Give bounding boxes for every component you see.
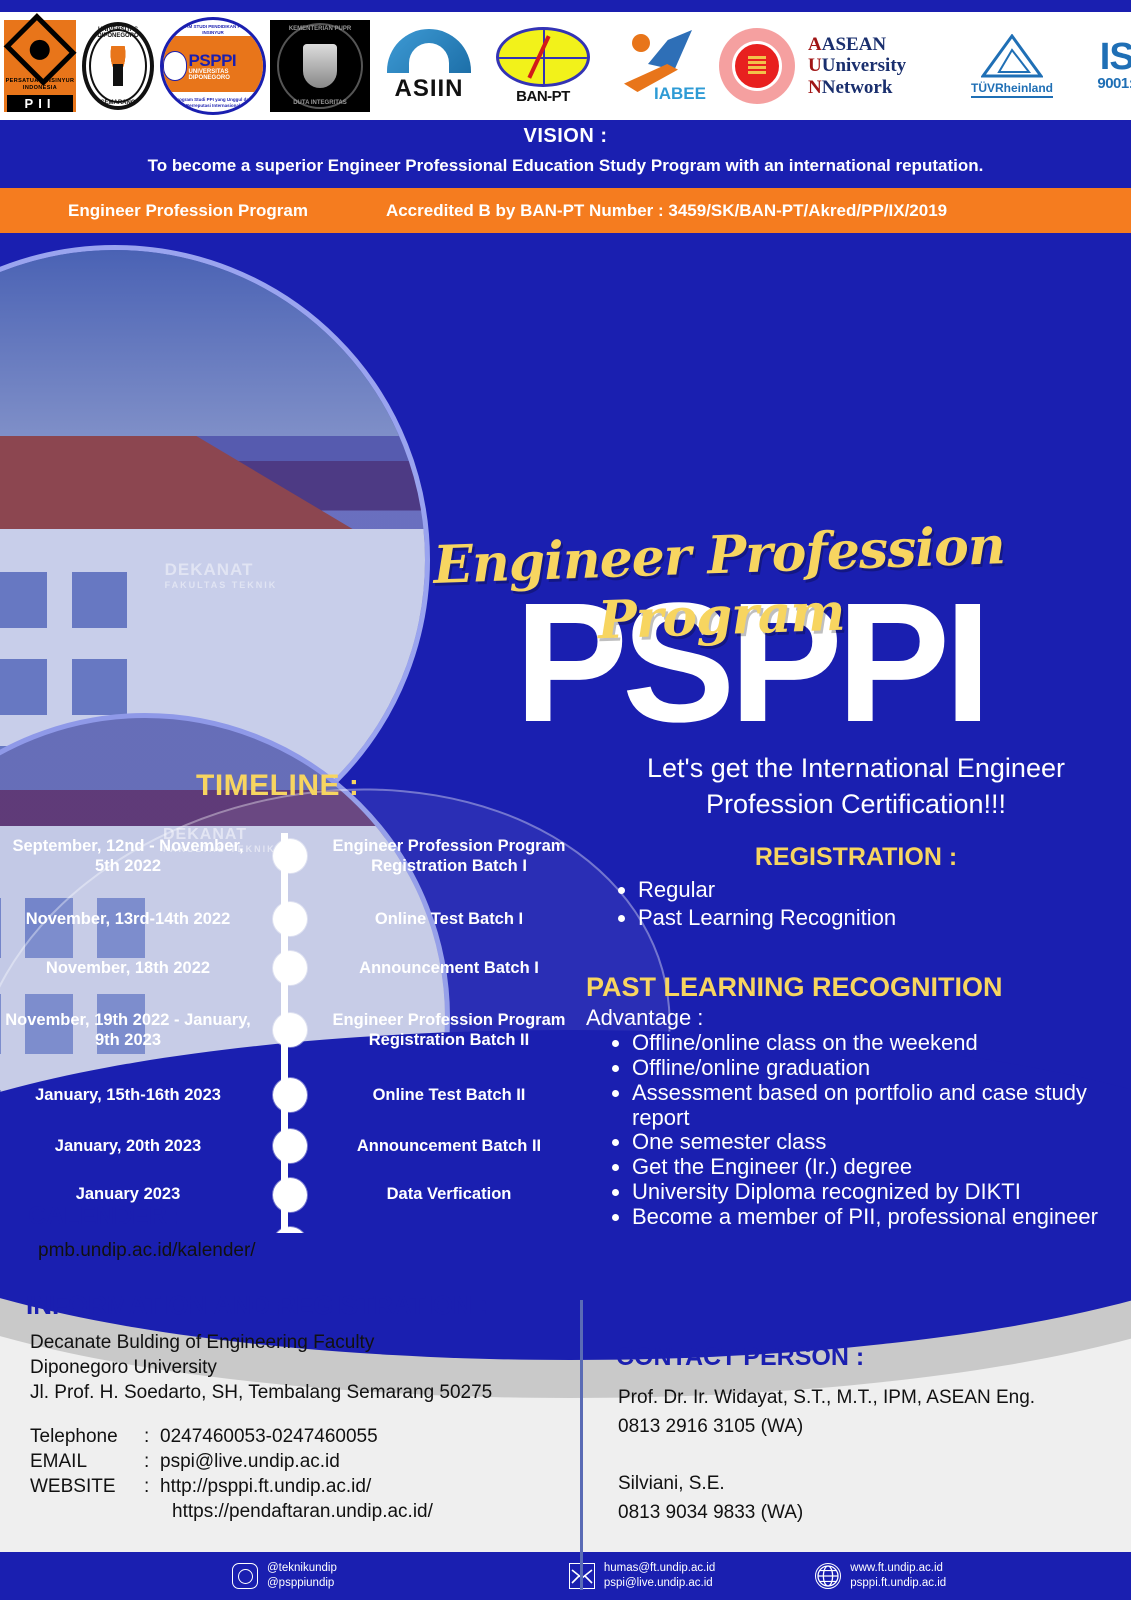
- plr-advantage-list: Offline/online class on the weekend Offl…: [586, 1031, 1126, 1233]
- list-item: One semester class: [632, 1130, 1126, 1155]
- pii-logo-label: PII: [7, 95, 73, 112]
- list-item: Past Learning Recognition: [638, 904, 1126, 932]
- aun-u: U: [808, 55, 822, 76]
- info-key: Telephone: [30, 1424, 144, 1449]
- footer-website[interactable]: www.ft.undip.ac.id psppi.ft.undip.ac.id: [815, 1561, 946, 1591]
- info-key: WEBSITE: [30, 1474, 144, 1499]
- timeline-date: November, 19th 2022 - January, 9th 2023: [0, 1010, 262, 1050]
- timeline-row: January, 20th 2023 Announcement Batch II: [0, 1122, 580, 1170]
- timeline-date: November, 13rd-14th 2022: [0, 909, 262, 929]
- timeline-event: Engineer Profession Program Registration…: [318, 1010, 576, 1050]
- right-column: Let's get the International Engineer Pro…: [586, 753, 1126, 1233]
- kemendikbud-logo: KEMENTERIAN PUPR DUTA INTEGRITAS: [270, 19, 370, 113]
- undip-torch-icon: [105, 46, 131, 86]
- timeline-date: November, 18th 2022: [0, 958, 262, 978]
- timeline-event: Data Verfication: [318, 1184, 576, 1204]
- contact-person-2: Silviani, S.E. 0813 9034 9833 (WA): [618, 1470, 803, 1527]
- timeline-date: September, 12nd - November, 5th 2022: [0, 836, 262, 876]
- hero-script-title: Engineer Profession Program: [368, 513, 1072, 659]
- psppi-logo-top-text: PROGRAM STUDI PENDIDIKAN PROFESI INSINYU…: [163, 24, 263, 36]
- timeline-row: November, 18th 2022 Announcement Batch I: [0, 944, 580, 992]
- timeline-row: November, 19th 2022 - January, 9th 2023 …: [0, 992, 580, 1068]
- timeline-date: January, 20th 2023: [0, 1136, 262, 1156]
- plr-heading: PAST LEARNING RECOGNITION: [586, 972, 1126, 1003]
- information-address: Decanate Bulding of Engineering Faculty …: [30, 1330, 492, 1405]
- list-item: Assessment based on portfolio and case s…: [632, 1081, 1126, 1131]
- accreditation-program: Engineer Profession Program: [68, 201, 308, 221]
- accreditation-text: Accredited B by BAN-PT Number : 3459/SK/…: [386, 201, 947, 221]
- info-row: https://pendaftaran.undip.ac.id/: [30, 1499, 435, 1524]
- footer-website-line1: www.ft.undip.ac.id: [850, 1561, 946, 1576]
- aun-n: N: [808, 77, 822, 98]
- list-item: Offline/online class on the weekend: [632, 1031, 1126, 1056]
- list-item: Offline/online graduation: [632, 1056, 1126, 1081]
- vision-band: VISION : To become a superior Engineer P…: [0, 120, 1131, 188]
- timeline-dot: [273, 1078, 307, 1112]
- pii-diamond-icon: [3, 13, 76, 86]
- contact-person-2-phone[interactable]: 0813 9034 9833 (WA): [618, 1499, 803, 1528]
- psppi-logo: PROGRAM STUDI PENDIDIKAN PROFESI INSINYU…: [160, 19, 266, 113]
- timeline-row: November, 13rd-14th 2022 Online Test Bat…: [0, 894, 580, 944]
- vertical-divider: [580, 1300, 583, 1590]
- info-key: EMAIL: [30, 1449, 144, 1474]
- timeline-row: January, 15th-16th 2023 Online Test Batc…: [0, 1068, 580, 1122]
- info-colon: :: [144, 1474, 160, 1499]
- undip-seal-bottom-text: SEMARANG: [80, 100, 156, 106]
- timeline-dot: [273, 1013, 307, 1047]
- registration-heading: REGISTRATION :: [586, 843, 1126, 872]
- info-value[interactable]: http://psppi.ft.undip.ac.id/: [160, 1474, 435, 1499]
- psppi-mini-seal-icon: [163, 51, 187, 81]
- kemendikbud-bottom-text: DUTA INTEGRITAS: [270, 100, 370, 106]
- info-value[interactable]: pspi@live.undip.ac.id: [160, 1449, 435, 1474]
- building-sign-main: DEKANAT: [165, 560, 254, 579]
- building-sign-sub: FAKULTAS TEKNIK: [165, 580, 278, 590]
- asean-logo: [716, 19, 798, 113]
- kemendikbud-top-text: KEMENTERIAN PUPR: [270, 26, 370, 32]
- list-item: Regular: [638, 876, 1126, 904]
- timeline-dot: [273, 951, 307, 985]
- timeline-list: September, 12nd - November, 5th 2022 Eng…: [0, 818, 580, 1233]
- timeline-dot: [273, 839, 307, 873]
- footer-instagram-line2: @psppiundip: [267, 1576, 337, 1591]
- aun-l1: ASEAN: [822, 34, 886, 55]
- footer-email-line1: humas@ft.undip.ac.id: [604, 1561, 715, 1576]
- undip-seal-top-text: UNIVERSITAS DIPONEGORO: [80, 27, 156, 39]
- timeline-event: Announcement Batch II: [318, 1136, 576, 1156]
- iso-9001-word: ISO: [1100, 40, 1131, 74]
- list-item: University Diploma recognized by DIKTI: [632, 1180, 1126, 1205]
- ban-pt-globe-icon: [496, 27, 590, 87]
- timeline-row: February 2023 Online/Offline Class: [0, 1219, 580, 1233]
- contact-person-1-name: Prof. Dr. Ir. Widayat, S.T., M.T., IPM, …: [618, 1384, 1035, 1413]
- timeline-dot: [273, 1129, 307, 1163]
- timeline-dot: [273, 1227, 307, 1233]
- list-item: Become a member of PII, professional eng…: [632, 1205, 1126, 1233]
- tuv-triangle-icon: [981, 34, 1043, 78]
- contact-person-heading: CONTACT PERSON :: [616, 1343, 864, 1372]
- undip-seal-logo: UNIVERSITAS DIPONEGORO SEMARANG: [80, 19, 156, 113]
- iso-9001-logo: ISO 9001:2015: [1072, 19, 1131, 113]
- vision-text: To become a superior Engineer Profession…: [0, 156, 1131, 176]
- contact-person-2-name: Silviani, S.E.: [618, 1470, 803, 1499]
- iabee-logo: IABEE: [602, 19, 712, 113]
- footer-instagram[interactable]: @teknikundip @psppiundip: [232, 1561, 337, 1591]
- instagram-icon: [232, 1563, 258, 1589]
- info-colon: [144, 1499, 160, 1524]
- information-heading: INFORMATION AND REGISTRATION :: [26, 1290, 488, 1321]
- info-value[interactable]: https://pendaftaran.undip.ac.id/: [160, 1499, 435, 1524]
- vision-title: VISION :: [0, 125, 1131, 148]
- info-key: [30, 1499, 144, 1524]
- info-row: WEBSITE : http://psppi.ft.undip.ac.id/: [30, 1474, 435, 1499]
- iabee-mark-icon: [632, 34, 650, 52]
- aun-logo: AASEAN UUniversity NNetwork: [802, 19, 952, 113]
- address-line-2: Diponegoro University: [30, 1355, 492, 1380]
- asiin-logo: ASIIN: [374, 19, 484, 113]
- info-row: Telephone : 0247460053-0247460055: [30, 1424, 435, 1449]
- psppi-logo-sub: UNIVERSITAS DIPONEGORO: [189, 69, 263, 81]
- ban-pt-logo: BAN-PT: [488, 19, 598, 113]
- bottom-info-panel: CALENDER : pmb.undip.ac.id/kalender/ INF…: [0, 1180, 1131, 1600]
- building-sign: DEKANAT FAKULTAS TEKNIK: [165, 560, 278, 590]
- psppi-poster: PERSATUAN INSINYUR INDONESIA PII UNIVERS…: [0, 0, 1131, 1600]
- plr-advantage-label: Advantage :: [586, 1005, 1126, 1031]
- iabee-logo-label: IABEE: [654, 84, 706, 104]
- registration-list: Regular Past Learning Recognition: [586, 876, 1126, 932]
- pii-logo: PERSATUAN INSINYUR INDONESIA PII: [4, 19, 76, 113]
- info-colon: :: [144, 1424, 160, 1449]
- timeline-heading: TIMELINE :: [196, 769, 359, 803]
- address-line-3: Jl. Prof. H. Soedarto, SH, Tembalang Sem…: [30, 1380, 492, 1405]
- info-value: 0247460053-0247460055: [160, 1424, 435, 1449]
- ban-pt-logo-label: BAN-PT: [516, 88, 570, 105]
- asiin-logo-label: ASIIN: [394, 75, 463, 103]
- asiin-arch-icon: [387, 29, 471, 73]
- asean-rice-icon: [748, 56, 766, 76]
- timeline-row: January 2023 Data Verfication: [0, 1170, 580, 1219]
- calender-url[interactable]: pmb.undip.ac.id/kalender/: [38, 1240, 256, 1262]
- aun-l3: Network: [822, 77, 893, 98]
- list-item: Get the Engineer (Ir.) degree: [632, 1155, 1126, 1180]
- footer-instagram-line1: @teknikundip: [267, 1561, 337, 1576]
- top-strip: [0, 0, 1131, 12]
- accreditation-logo-bar: PERSATUAN INSINYUR INDONESIA PII UNIVERS…: [0, 12, 1131, 120]
- globe-icon: [815, 1563, 841, 1589]
- contact-person-1: Prof. Dr. Ir. Widayat, S.T., M.T., IPM, …: [618, 1384, 1035, 1441]
- psppi-logo-main: PSPPI: [189, 52, 263, 69]
- footer-website-line2: psppi.ft.undip.ac.id: [850, 1576, 946, 1591]
- address-line-1: Decanate Bulding of Engineering Faculty: [30, 1330, 492, 1355]
- info-colon: :: [144, 1449, 160, 1474]
- psppi-logo-bottom-text: Program Studi PPI yang Unggul dan Berrep…: [163, 97, 263, 109]
- main-body: DEKANAT FAKULTAS TEKNIK DEKANAT FAKULTAS…: [0, 233, 1131, 1233]
- hero-tagline-line2: Profession Certification!!!: [586, 789, 1126, 821]
- aun-l2: University: [822, 55, 906, 76]
- info-row: EMAIL : pspi@live.undip.ac.id: [30, 1449, 435, 1474]
- timeline-dot: [273, 1178, 307, 1212]
- timeline-date: January, 15th-16th 2023: [0, 1085, 262, 1105]
- timeline-event: Announcement Batch I: [318, 958, 576, 978]
- timeline-event: Online Test Batch I: [318, 909, 576, 929]
- footer-bar: @teknikundip @psppiundip humas@ft.undip.…: [0, 1552, 1131, 1600]
- accreditation-band: Engineer Profession Program Accredited B…: [0, 188, 1131, 233]
- footer-email-line2: pspi@live.undip.ac.id: [604, 1576, 715, 1591]
- timeline-date: January 2023: [0, 1184, 262, 1204]
- shield-icon: [303, 44, 337, 88]
- timeline-row: September, 12nd - November, 5th 2022 Eng…: [0, 818, 580, 894]
- timeline-event: Online Test Batch II: [318, 1085, 576, 1105]
- footer-email[interactable]: humas@ft.undip.ac.id pspi@live.undip.ac.…: [569, 1561, 715, 1591]
- contact-person-1-phone[interactable]: 0813 2916 3105 (WA): [618, 1413, 1035, 1442]
- aun-a: A: [808, 34, 822, 55]
- information-contact-rows: Telephone : 0247460053-0247460055 EMAIL …: [30, 1424, 435, 1524]
- timeline-event: Engineer Profession Program Registration…: [318, 836, 576, 876]
- timeline-dot: [273, 902, 307, 936]
- tuv-logo-label: TÜVRheinland: [971, 81, 1053, 98]
- tuv-rheinland-logo: TÜVRheinland: [956, 19, 1068, 113]
